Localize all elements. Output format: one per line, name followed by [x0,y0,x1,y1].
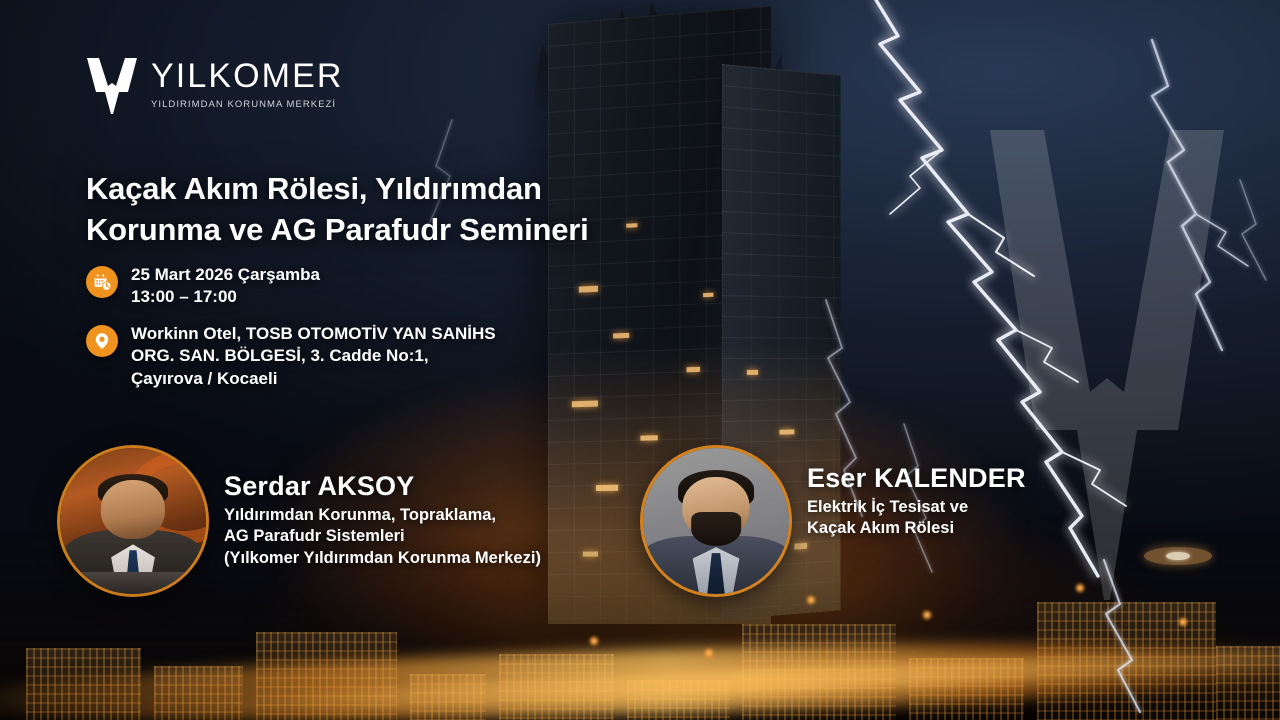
speaker-role-1-line-3: (Yılkomer Yıldırımdan Korunma Merkezi) [224,548,541,569]
speaker-name-2: Eser KALENDER [807,464,1026,494]
speaker-card-1: Serdar AKSOY Yıldırımdan Korunma, Toprak… [60,448,541,594]
speaker-role-2-line-1: Elektrik İç Tesisat ve [807,497,1026,518]
avatar [60,448,206,594]
speaker-role-1: Yıldırımdan Korunma, Topraklama, AG Para… [224,505,541,569]
calendar-clock-icon [86,266,118,298]
brand-name: YILKOMER [151,59,344,93]
speaker-role-1-line-1: Yıldırımdan Korunma, Topraklama, [224,505,541,526]
event-date-row: 25 Mart 2026 Çarşamba 13:00 – 17:00 [86,264,496,309]
event-date-text: 25 Mart 2026 Çarşamba 13:00 – 17:00 [131,264,320,309]
event-location-text: Workinn Otel, TOSB OTOMOTİV YAN SANİHS O… [131,323,496,390]
event-details: 25 Mart 2026 Çarşamba 13:00 – 17:00 Work… [86,264,496,390]
event-time: 13:00 – 17:00 [131,286,320,308]
page-title-line-1: Kaçak Akım Rölesi, Yıldırımdan [86,168,746,209]
speaker-role-2-line-2: Kaçak Akım Rölesi [807,518,1026,539]
brand-logo: YILKOMER YILDIRIMDAN KORUNMA MERKEZİ [86,56,344,114]
speaker-photo-eser-kalender [643,448,789,594]
brand-tagline: YILDIRIMDAN KORUNMA MERKEZİ [151,99,344,110]
speaker-photo-serdar-aksoy [60,448,206,594]
speaker-first-name-2: Eser [807,463,866,493]
speaker-card-2: Eser KALENDER Elektrik İç Tesisat ve Kaç… [643,448,1026,594]
event-venue: Workinn Otel, TOSB OTOMOTİV YAN SANİHS [131,323,496,345]
speaker-role-2: Elektrik İç Tesisat ve Kaçak Akım Rölesi [807,497,1026,540]
event-city: Çayırova / Kocaeli [131,368,496,390]
speaker-last-name-2: KALENDER [874,463,1026,493]
event-location-row: Workinn Otel, TOSB OTOMOTİV YAN SANİHS O… [86,323,496,390]
speaker-role-1-line-2: AG Parafudr Sistemleri [224,526,541,547]
speaker-last-name-1: AKSOY [317,471,414,501]
event-date: 25 Mart 2026 Çarşamba [131,264,320,286]
page-title-line-2: Korunma ve AG Parafudr Semineri [86,209,746,250]
speaker-first-name-1: Serdar [224,471,311,501]
avatar [643,448,789,594]
speaker-name-1: Serdar AKSOY [224,472,541,502]
page-title: Kaçak Akım Rölesi, Yıldırımdan Korunma v… [86,168,746,250]
map-pin-icon [86,325,118,357]
seminar-poster: YILKOMER YILDIRIMDAN KORUNMA MERKEZİ Kaç… [0,0,1280,720]
lightning-v-mark-icon [86,56,138,114]
event-address: ORG. SAN. BÖLGESİ, 3. Cadde No:1, [131,345,496,367]
